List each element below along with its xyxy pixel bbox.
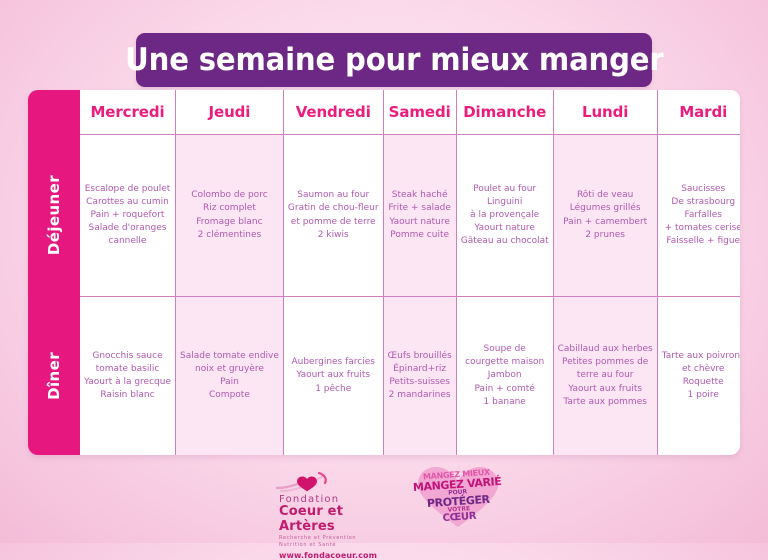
heart-swoosh-icon [267,470,401,494]
lunch-cell-dimanche: Poulet au four Linguini à la provençale … [457,134,553,297]
meal-line: Farfalles [684,209,721,222]
day-header: Mercredi [80,90,175,134]
dinner-cell-vendredi: Aubergines farcies Yaourt aux fruits 1 p… [284,297,383,455]
day-header: Mardi [658,90,740,134]
page-title: Une semaine pour mieux manger [125,42,663,78]
lunch-cell-samedi: Steak haché Frite + salade Yaourt nature… [384,134,456,297]
meal-line: Tarte aux poivrons [662,350,740,363]
logo-website-url[interactable]: www.fondacoeur.com [267,550,401,560]
logo-line-coeur-arteres: Coeur et Artères [267,505,401,535]
meal-line: Yaourt à la grecque [84,376,171,389]
day-column-mardi: Mardi Saucisses De strasbourg Farfalles … [658,90,740,455]
dinner-cell-samedi: Œufs brouillés Épinard+riz Petits-suisse… [384,297,456,455]
meal-line: cannelle [109,235,147,248]
meal-line: Petits-suisses [389,376,450,389]
meal-line: Yaourt aux fruits [568,383,642,396]
logo-tagline-2: Nutrition et Santé [267,542,401,550]
day-name: Dimanche [463,103,546,121]
lunch-cell-lundi: Rôti de veau Légumes grillés Pain + came… [554,134,657,297]
meal-line: Pain [220,376,239,389]
fondacoeur-logo: Fondation Coeur et Artères Recherche et … [267,462,401,560]
meal-line: Épinard+riz [393,363,446,376]
day-name: Mercredi [90,103,164,121]
day-column-jeudi: Jeudi Colombo de porc Riz complet Fromag… [176,90,284,455]
day-columns: Mercredi Escalope de poulet Carottes au … [80,90,740,455]
day-column-vendredi: Vendredi Saumon au four Gratin de chou-f… [284,90,384,455]
day-header: Vendredi [284,90,383,134]
day-header: Samedi [384,90,456,134]
meal-line: De strasbourg [671,196,735,209]
rail-label-lunch: Déjeuner [45,175,63,255]
meal-line: Petites pommes de [562,356,648,369]
dinner-cell-jeudi: Salade tomate endive noix et gruyère Pai… [176,297,283,455]
meal-line: Tarte aux pommes [563,396,647,409]
meal-line: Frite + salade [388,202,451,215]
meal-line: 2 prunes [585,229,625,242]
day-column-samedi: Samedi Steak haché Frite + salade Yaourt… [384,90,457,455]
meal-line: 1 pêche [315,383,351,396]
meal-line: Riz complet [203,202,256,215]
day-column-lundi: Lundi Rôti de veau Légumes grillés Pain … [554,90,658,455]
lunch-cell-jeudi: Colombo de porc Riz complet Fromage blan… [176,134,283,297]
meal-line: Fromage blanc [196,216,262,229]
meal-line: Pomme cuite [390,229,449,242]
meal-line: Pain + comté [475,383,535,396]
meal-line: Linguini [487,196,522,209]
meal-line: Yaourt nature [474,222,535,235]
meal-line: courgette maison [465,356,544,369]
footer: Fondation Coeur et Artères Recherche et … [0,462,768,538]
meal-line: Yaourt aux fruits [296,369,370,382]
day-header: Dimanche [457,90,553,134]
meal-line: Gratin de chou-fleur [288,202,379,215]
meal-line: Œufs brouillés [388,350,452,363]
day-column-mercredi: Mercredi Escalope de poulet Carottes au … [80,90,176,455]
meal-line: Carottes au cumin [86,196,169,209]
meal-line: Escalope de poulet [85,183,171,196]
rail-lunch: Déjeuner [28,134,80,297]
meal-line: tomate basilic [96,363,160,376]
rail-dinner: Dîner [28,297,80,455]
heart-wordart: MANGEZ MIEUX MANGEZ VARIÉ POUR PROTÉGER … [415,464,501,530]
day-header: Lundi [554,90,657,134]
meal-line: Compote [209,389,250,402]
day-name: Lundi [582,103,628,121]
dinner-cell-mercredi: Gnocchis sauce tomate basilic Yaourt à l… [80,297,175,455]
meal-line: Gâteau au chocolat [461,235,549,248]
meal-line: Gnocchis sauce [92,350,162,363]
weekly-menu-table: Déjeuner Dîner Mercredi Escalope de poul… [28,90,740,455]
meal-line: Colombo de porc [191,189,267,202]
meal-line: Jambon [488,369,522,382]
meal-line: Cabillaud aux herbes [558,343,653,356]
heart-words: MANGEZ MIEUX MANGEZ VARIÉ POUR PROTÉGER … [413,461,503,533]
meal-type-rail: Déjeuner Dîner [28,90,80,455]
meal-line: 2 kiwis [318,229,349,242]
meal-line: Salade tomate endive [180,350,279,363]
meal-line: Saucisses [681,183,725,196]
meal-line: terre au four [577,369,634,382]
meal-line: et pomme de terre [291,216,376,229]
meal-line: Steak haché [392,189,448,202]
meal-line: Yaourt nature [389,216,450,229]
meal-line: noix et gruyère [195,363,264,376]
meal-line: Poulet au four [473,183,536,196]
dinner-cell-mardi: Tarte aux poivrons et chèvre Roquette 1 … [658,297,740,455]
meal-line: à la provençale [470,209,539,222]
day-column-dimanche: Dimanche Poulet au four Linguini à la pr… [457,90,554,455]
meal-line: 1 poire [688,389,719,402]
day-header: Jeudi [176,90,283,134]
day-name: Mardi [679,103,727,121]
meal-line: et chèvre [682,363,724,376]
lunch-cell-mercredi: Escalope de poulet Carottes au cumin Pai… [80,134,175,297]
meal-line: 1 banane [484,396,526,409]
meal-line: + tomates cerise [665,222,740,235]
rail-corner [28,90,80,134]
meal-line: Aubergines farcies [291,356,375,369]
meal-line: Pain + roquefort [91,209,165,222]
meal-line: Rôti de veau [577,189,633,202]
meal-line: Roquette [683,376,724,389]
meal-line: Faisselle + figue [666,235,740,248]
meal-line: Soupe de [484,343,526,356]
day-name: Jeudi [209,103,251,121]
meal-line: 2 mandarines [389,389,451,402]
lunch-cell-mardi: Saucisses De strasbourg Farfalles + toma… [658,134,740,297]
meal-line: Raisin blanc [100,389,154,402]
heart-word-6: CŒUR [442,512,476,524]
meal-line: Légumes grillés [570,202,641,215]
meal-line: 2 clémentines [198,229,262,242]
meal-line: Pain + camembert [563,216,647,229]
lunch-cell-vendredi: Saumon au four Gratin de chou-fleur et p… [284,134,383,297]
title-banner: Une semaine pour mieux manger [136,33,652,87]
rail-label-dinner: Dîner [45,352,63,400]
day-name: Samedi [389,103,451,121]
meal-line: Salade d'oranges [89,222,167,235]
meal-line: Saumon au four [297,189,369,202]
day-name: Vendredi [296,103,371,121]
dinner-cell-lundi: Cabillaud aux herbes Petites pommes de t… [554,297,657,455]
dinner-cell-dimanche: Soupe de courgette maison Jambon Pain + … [457,297,553,455]
